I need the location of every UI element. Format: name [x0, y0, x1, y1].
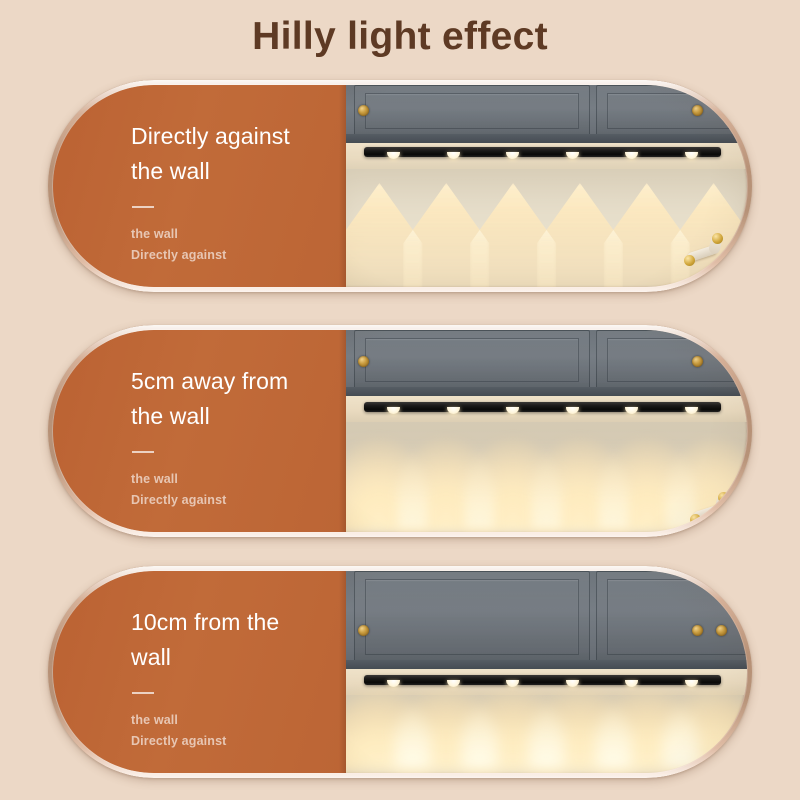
cabinet-knob-icon [716, 625, 727, 636]
panel-heading: 10cm from the wall [131, 605, 316, 675]
panel-caption-area: Directly against the wall the wall Direc… [53, 85, 346, 287]
led-light-bar [364, 147, 721, 157]
faucet-icon [683, 233, 723, 267]
caption-divider [132, 692, 154, 694]
cabinet-door [596, 330, 747, 390]
kitchen-cabinet [346, 330, 747, 396]
panel-subtext-line-1: the wall [131, 224, 346, 245]
panel-subtext-line-2: Directly against [131, 490, 346, 511]
caption-divider [132, 451, 154, 453]
led-light-bar [364, 402, 721, 412]
cabinet-bottom-rail [346, 660, 747, 669]
cabinet-door [596, 571, 747, 663]
cabinet-knob-icon [692, 105, 703, 116]
cabinet-knob-icon [358, 105, 369, 116]
cabinet-knob-icon [358, 625, 369, 636]
comparison-panel[interactable]: Directly against the wall the wall Direc… [48, 80, 752, 292]
cabinet-knob-icon [692, 356, 703, 367]
cabinet-bottom-rail [346, 387, 747, 396]
cabinet-door [354, 571, 590, 663]
panel-heading: Directly against the wall [131, 119, 316, 189]
cabinet-door [354, 85, 590, 137]
cabinet-door [354, 330, 590, 390]
kitchen-cabinet [346, 571, 747, 669]
cabinet-bottom-rail [346, 134, 747, 143]
faucet-gold-accent [712, 233, 723, 244]
comparison-panel[interactable]: 10cm from the wall the wall Directly aga… [48, 566, 752, 778]
faucet-gold-accent [690, 514, 701, 525]
panel-subtext-line-2: Directly against [131, 731, 346, 752]
faucet-gold-accent [684, 255, 695, 266]
comparison-panel[interactable]: 5cm away from the wall the wall Directly… [48, 325, 752, 537]
panel-caption-area: 10cm from the wall the wall Directly aga… [53, 571, 346, 773]
cabinet-knob-icon [358, 356, 369, 367]
panel-subtext-line-1: the wall [131, 469, 346, 490]
faucet-gold-accent [718, 492, 729, 503]
kitchen-cabinet [346, 85, 747, 143]
panel-caption-area: 5cm away from the wall the wall Directly… [53, 330, 346, 532]
panel-subtext-line-2: Directly against [131, 245, 346, 266]
cabinet-door [596, 85, 747, 137]
caption-divider [132, 206, 154, 208]
faucet-icon [689, 492, 729, 526]
cabinet-knob-icon [692, 625, 703, 636]
panel-heading: 5cm away from the wall [131, 364, 316, 434]
led-light-bar [364, 675, 721, 685]
page-title: Hilly light effect [0, 14, 800, 60]
panel-subtext-line-1: the wall [131, 710, 346, 731]
